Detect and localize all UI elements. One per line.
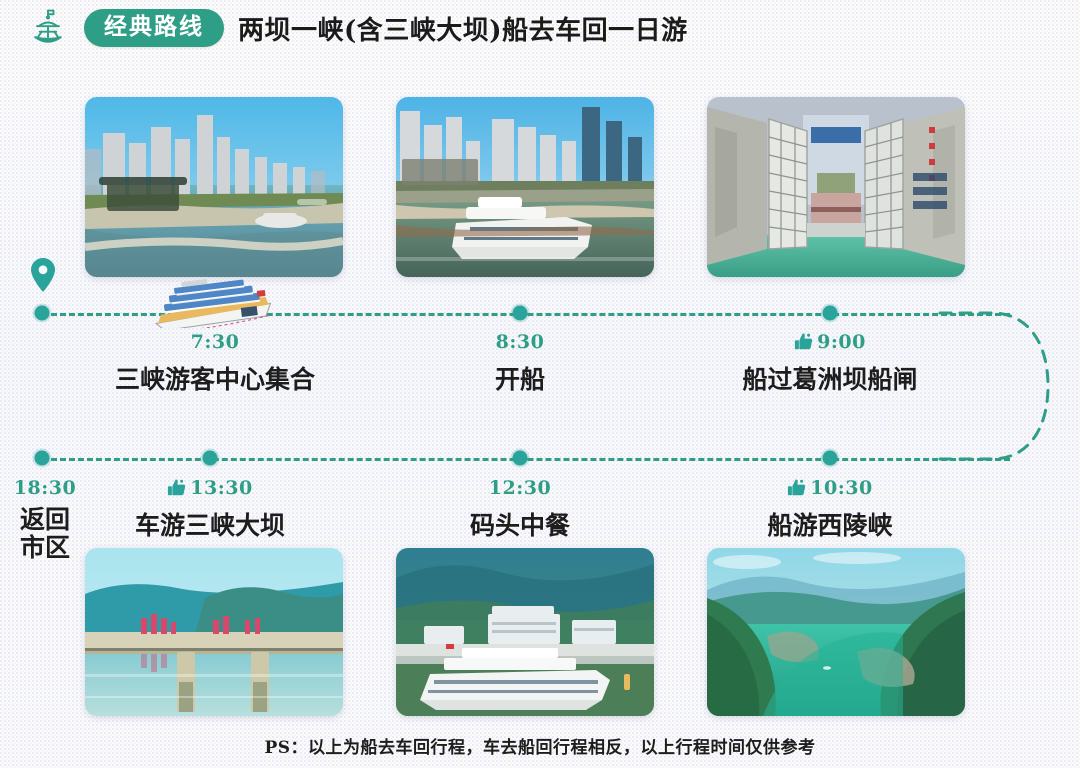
cruise-ship-icon xyxy=(26,6,70,50)
stop-time-row: 13:30 xyxy=(110,476,310,500)
stop-row2-1: 13:30 车游三峡大坝 xyxy=(110,476,310,542)
page-title: 两坝一峡(含三峡大坝)船去车回一日游 xyxy=(238,10,688,47)
timeline-node-r2-1 xyxy=(203,451,218,466)
stop-time: 12:30 xyxy=(489,477,551,499)
stop-name: 三峡游客中心集合 xyxy=(105,360,325,396)
stop-name: 码头中餐 xyxy=(420,506,620,542)
stop-time-row: 10:30 xyxy=(730,476,930,500)
stop-name: 返回市区 xyxy=(12,506,78,562)
stop-time: 13:30 xyxy=(190,477,252,499)
stop-row1-2: 9:00 船过葛洲坝船闸 xyxy=(730,330,930,396)
thumbs-up-icon xyxy=(794,332,814,352)
stop-time: 7:30 xyxy=(191,331,240,353)
cruise-ship-illustration xyxy=(146,278,286,328)
stop-row1-1: 8:30 开船 xyxy=(420,330,620,396)
photo-boat-departure xyxy=(396,97,654,277)
timeline-uturn-connector xyxy=(936,298,1056,474)
stop-time-row: 9:00 xyxy=(730,330,930,354)
timeline-node-r2-0 xyxy=(35,451,50,466)
timeline-node-r2-2 xyxy=(513,451,528,466)
stop-row2-3: 10:30 船游西陵峡 xyxy=(730,476,930,542)
timeline-node-r1-2 xyxy=(823,306,838,321)
timeline-node-r1-0 xyxy=(35,306,50,321)
stop-time-row: 7:30 xyxy=(105,330,325,354)
photo-visitor-center xyxy=(85,97,343,277)
stop-name: 船游西陵峡 xyxy=(730,506,930,542)
timeline-node-r1-1 xyxy=(513,306,528,321)
photo-xiling-gorge xyxy=(707,548,965,716)
stop-time: 9:00 xyxy=(817,331,866,353)
stop-time-row: 12:30 xyxy=(420,476,620,500)
map-pin-icon xyxy=(30,257,56,293)
stop-name: 船过葛洲坝船闸 xyxy=(730,360,930,396)
stop-row2-2: 12:30 码头中餐 xyxy=(420,476,620,542)
photo-gezhouba-lock xyxy=(707,97,965,277)
poster-header: 经典路线 两坝一峡(含三峡大坝)船去车回一日游 xyxy=(26,6,688,50)
thumbs-up-icon xyxy=(787,478,807,498)
itinerary-poster: 经典路线 两坝一峡(含三峡大坝)船去车回一日游 xyxy=(0,0,1080,768)
stop-name: 开船 xyxy=(420,360,620,396)
timeline-node-r2-3 xyxy=(823,451,838,466)
stop-time-row: 8:30 xyxy=(420,330,620,354)
stop-time-row: 18:30 xyxy=(12,476,78,500)
stop-row2-0: 18:30 返回市区 xyxy=(12,476,78,562)
photo-three-gorges-dam xyxy=(85,548,343,716)
photo-pier-lunch xyxy=(396,548,654,716)
thumbs-up-icon xyxy=(167,478,187,498)
route-category-badge: 经典路线 xyxy=(84,9,224,47)
stop-time: 10:30 xyxy=(810,477,872,499)
stop-time: 8:30 xyxy=(496,331,545,353)
stop-row1-0: 7:30 三峡游客中心集合 xyxy=(105,330,325,396)
ps-note: PS：以上为船去车回行程，车去船回行程相反，以上行程时间仅供参考 xyxy=(0,733,1080,758)
stop-time: 18:30 xyxy=(14,477,76,499)
stop-name: 车游三峡大坝 xyxy=(110,506,310,542)
